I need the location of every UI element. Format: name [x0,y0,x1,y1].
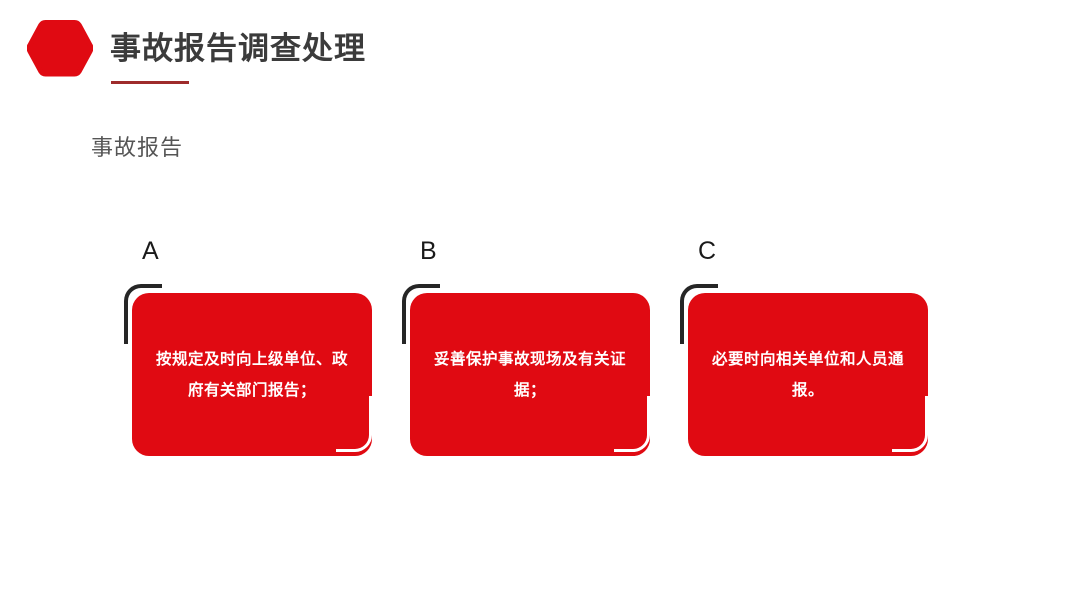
card-letter-b: B [420,236,437,266]
cards-row: A 按规定及时向上级单位、政府有关部门报告； B 妥善保护事故现场及有关证据； … [0,0,1080,608]
card-b-text: 妥善保护事故现场及有关证据； [432,344,628,406]
card-group-a: A 按规定及时向上级单位、政府有关部门报告； [124,236,380,466]
slide-canvas: 事故报告调查处理 事故报告 A 按规定及时向上级单位、政府有关部门报告； B 妥… [0,0,1080,608]
bracket-bottom-right-icon [892,396,928,452]
card-group-b: B 妥善保护事故现场及有关证据； [402,236,658,466]
card-c-text: 必要时向相关单位和人员通报。 [710,344,906,406]
bracket-bottom-right-icon [336,396,372,452]
card-letter-a: A [142,236,159,266]
bracket-bottom-right-icon [614,396,650,452]
card-a-text: 按规定及时向上级单位、政府有关部门报告； [154,344,350,406]
card-group-c: C 必要时向相关单位和人员通报。 [680,236,936,466]
card-letter-c: C [698,236,716,266]
